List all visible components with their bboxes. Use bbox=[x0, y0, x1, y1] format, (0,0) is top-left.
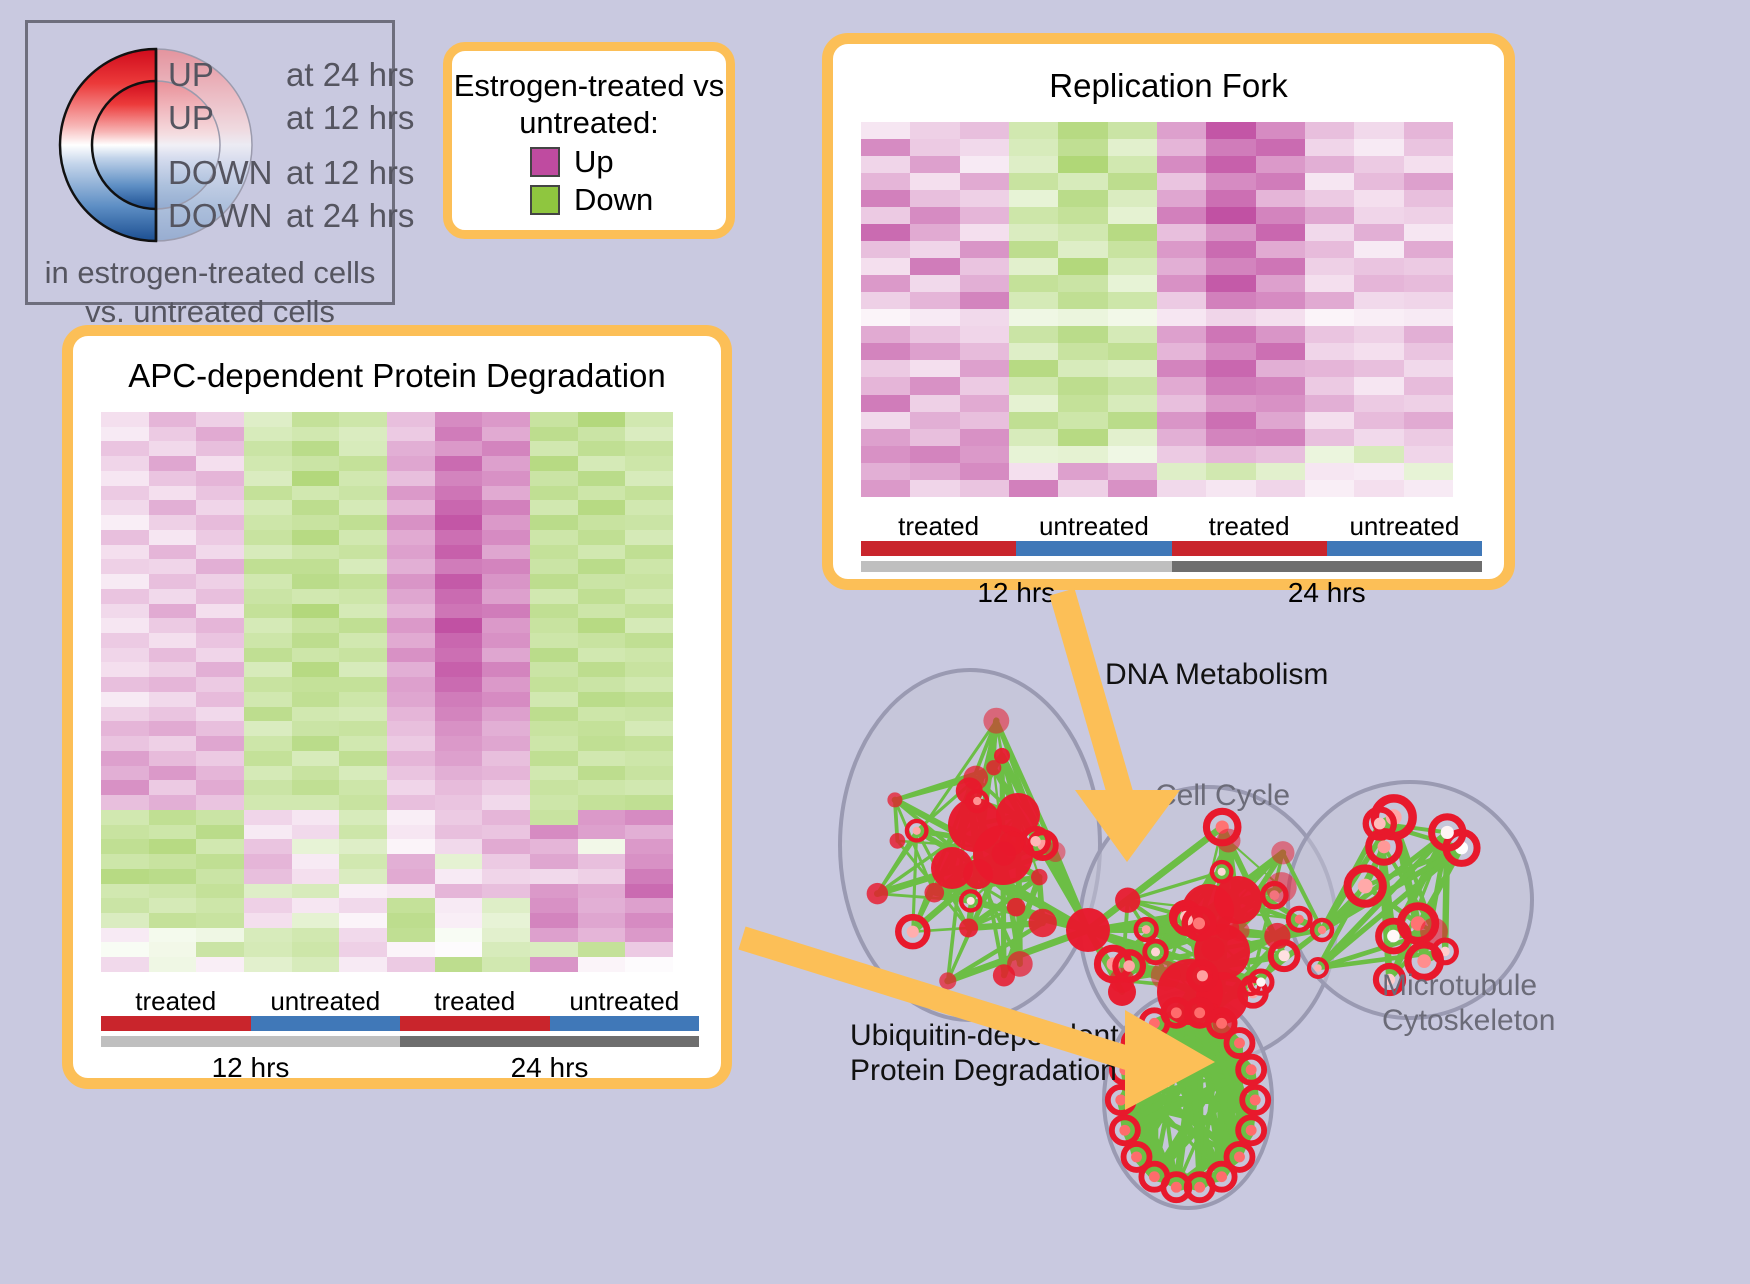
heatmap-cell bbox=[435, 721, 483, 736]
heatmap-cell bbox=[482, 633, 530, 648]
heatmap-cell bbox=[101, 898, 149, 913]
network-graph bbox=[770, 600, 1750, 1279]
heatmap-cell bbox=[196, 633, 244, 648]
heatmap-cell bbox=[1404, 360, 1453, 377]
heatmap-cell bbox=[387, 530, 435, 545]
heatmap-cell bbox=[530, 692, 578, 707]
heatmap-cell bbox=[578, 486, 626, 501]
heatmap-cell bbox=[1404, 258, 1453, 275]
heatmap-cell bbox=[960, 309, 1009, 326]
heatmap-cell bbox=[1058, 224, 1107, 241]
heatmap-cell bbox=[625, 589, 673, 604]
heatmap-row bbox=[861, 139, 1482, 156]
cluster-label-dna-metabolism: DNA Metabolism bbox=[1105, 657, 1328, 692]
network-node[interactable] bbox=[986, 760, 1001, 775]
network-node[interactable] bbox=[1007, 898, 1026, 917]
heatmap-cell bbox=[339, 574, 387, 589]
heatmap-cell bbox=[578, 736, 626, 751]
heatmap-cell bbox=[339, 839, 387, 854]
heatmap-cell bbox=[910, 139, 959, 156]
heatmap-cell bbox=[482, 412, 530, 427]
heatmap-cell bbox=[530, 545, 578, 560]
heatmap-cell bbox=[482, 677, 530, 692]
heatmap-row bbox=[101, 825, 699, 840]
heatmap-cell bbox=[101, 618, 149, 633]
network-node[interactable] bbox=[963, 859, 993, 889]
heatmap-cell bbox=[339, 441, 387, 456]
heatmap-row bbox=[101, 928, 699, 943]
heatmap-cell bbox=[387, 471, 435, 486]
heatmap-cell bbox=[196, 854, 244, 869]
network-node[interactable] bbox=[1266, 872, 1297, 903]
heatmap-cell bbox=[625, 604, 673, 619]
heatmap-cell bbox=[1108, 241, 1157, 258]
heatmap-cell bbox=[578, 530, 626, 545]
heatmap-cell bbox=[1305, 446, 1354, 463]
heatmap-cell bbox=[196, 500, 244, 515]
heatmap-cell bbox=[1108, 326, 1157, 343]
heatmap-cell bbox=[1058, 480, 1107, 497]
heatmap-cell bbox=[101, 648, 149, 663]
network-node-core bbox=[1119, 1064, 1130, 1075]
heatmap-cell bbox=[244, 471, 292, 486]
network-node-core bbox=[1279, 950, 1290, 961]
heatmap-row bbox=[101, 545, 699, 560]
heatmap-cell bbox=[292, 618, 340, 633]
network-node[interactable] bbox=[1420, 918, 1448, 946]
network-node[interactable] bbox=[939, 972, 956, 989]
treatment-colorbar bbox=[101, 1016, 699, 1031]
heatmap-cell bbox=[578, 589, 626, 604]
heatmap-cell bbox=[861, 360, 910, 377]
heatmap-cell bbox=[578, 441, 626, 456]
heatmap-cell bbox=[530, 662, 578, 677]
heatmap-cell bbox=[387, 736, 435, 751]
network-node[interactable] bbox=[1007, 951, 1033, 977]
heatmap-cell bbox=[1157, 412, 1206, 429]
heatmap-cell bbox=[530, 869, 578, 884]
heatmap-row bbox=[101, 839, 699, 854]
heatmap-cell bbox=[910, 156, 959, 173]
heatmap-cell bbox=[625, 736, 673, 751]
network-node[interactable] bbox=[959, 918, 978, 937]
heatmap-cell bbox=[149, 427, 197, 442]
heatmap-cell bbox=[578, 810, 626, 825]
network-node-core bbox=[907, 926, 919, 938]
heatmap-cell bbox=[960, 173, 1009, 190]
key-row-0: UP at 24 hrs bbox=[168, 58, 414, 91]
heatmap-cell bbox=[1108, 343, 1157, 360]
heatmap-cell bbox=[960, 241, 1009, 258]
network-node[interactable] bbox=[1028, 909, 1056, 937]
heatmap-cell bbox=[435, 736, 483, 751]
heatmap-cell bbox=[1404, 412, 1453, 429]
network-node[interactable] bbox=[1045, 842, 1065, 862]
key-row-1-when: at 12 hrs bbox=[286, 101, 414, 134]
heatmap-cell bbox=[910, 258, 959, 275]
heatmap-cell bbox=[625, 780, 673, 795]
heatmap-cell bbox=[1009, 326, 1058, 343]
network-node[interactable] bbox=[983, 708, 1009, 734]
heatmap-cell bbox=[1108, 156, 1157, 173]
heatmap-cell bbox=[244, 913, 292, 928]
heatmap-cell bbox=[244, 427, 292, 442]
heatmap-cell bbox=[435, 618, 483, 633]
heatmap-cell bbox=[435, 412, 483, 427]
heatmap-cell bbox=[387, 545, 435, 560]
heatmap-cell bbox=[1404, 190, 1453, 207]
heatmap-cell bbox=[625, 766, 673, 781]
network-node[interactable] bbox=[1271, 841, 1294, 864]
network-node-core bbox=[1030, 836, 1041, 847]
network-node[interactable] bbox=[1217, 829, 1241, 853]
heatmap-cell bbox=[1206, 258, 1255, 275]
heatmap-cell bbox=[101, 957, 149, 972]
heatmap-cell bbox=[101, 839, 149, 854]
heatmap-cell bbox=[435, 456, 483, 471]
heatmap-cell bbox=[1058, 241, 1107, 258]
heatmap-cell bbox=[1206, 480, 1255, 497]
heatmap-cell bbox=[910, 377, 959, 394]
treatment-label: treated bbox=[400, 986, 550, 1016]
heatmap-cell bbox=[244, 604, 292, 619]
heatmap-cell bbox=[339, 736, 387, 751]
heatmap-cell bbox=[1305, 275, 1354, 292]
heatmap-cell bbox=[196, 692, 244, 707]
heatmap-cell bbox=[244, 441, 292, 456]
heatmap-cell bbox=[435, 559, 483, 574]
heatmap-row bbox=[101, 898, 699, 913]
network-node[interactable] bbox=[1151, 961, 1181, 991]
heatmap-cell bbox=[387, 884, 435, 899]
heatmap-cell bbox=[387, 839, 435, 854]
heatmap-cell bbox=[1108, 173, 1157, 190]
heatmap-cell bbox=[1256, 292, 1305, 309]
heatmap-cell bbox=[435, 928, 483, 943]
heatmap-cell bbox=[196, 928, 244, 943]
network-node-core bbox=[1123, 960, 1135, 972]
heatmap-cell bbox=[625, 913, 673, 928]
heatmap-row bbox=[101, 766, 699, 781]
heatmap-cell bbox=[149, 677, 197, 692]
heatmap-cell bbox=[339, 942, 387, 957]
color-key-footer: in estrogen-treated cells vs. untreated … bbox=[28, 253, 392, 331]
key-row-0-label: UP bbox=[168, 58, 286, 91]
heatmap-cell bbox=[482, 736, 530, 751]
heatmap-row bbox=[861, 463, 1482, 480]
heatmap-cell bbox=[1404, 446, 1453, 463]
legend-title: Estrogen-treated vs untreated: bbox=[452, 67, 726, 141]
heatmap-cell bbox=[339, 854, 387, 869]
heatmap-cell bbox=[578, 692, 626, 707]
heatmap-cell bbox=[482, 810, 530, 825]
heatmap-cell bbox=[387, 751, 435, 766]
heatmap-cell bbox=[196, 427, 244, 442]
heatmap-cell bbox=[101, 913, 149, 928]
heatmap-cell bbox=[530, 839, 578, 854]
heatmap-cell bbox=[960, 360, 1009, 377]
heatmap-cell bbox=[530, 721, 578, 736]
heatmap-cell bbox=[149, 928, 197, 943]
heatmap-cell bbox=[149, 574, 197, 589]
heatmap-row bbox=[101, 604, 699, 619]
legend-item-down: Down bbox=[530, 183, 726, 217]
heatmap-cell bbox=[1305, 412, 1354, 429]
heatmap-cell bbox=[482, 884, 530, 899]
heatmap-cell bbox=[101, 692, 149, 707]
heatmap-cell bbox=[625, 471, 673, 486]
network-node-core bbox=[1314, 964, 1322, 972]
heatmap-cell bbox=[1206, 139, 1255, 156]
apc-axis: treateduntreatedtreateduntreated 12 hrs2… bbox=[101, 986, 699, 1085]
heatmap-cell bbox=[149, 957, 197, 972]
heatmap-cell bbox=[625, 677, 673, 692]
heatmap-cell bbox=[578, 427, 626, 442]
heatmap-cell bbox=[1305, 326, 1354, 343]
heatmap-cell bbox=[482, 604, 530, 619]
heatmap-cell bbox=[578, 766, 626, 781]
heatmap-cell bbox=[530, 780, 578, 795]
heatmap-cell bbox=[244, 633, 292, 648]
heatmap-cell bbox=[1058, 156, 1107, 173]
heatmap-cell bbox=[292, 707, 340, 722]
heatmap-cell bbox=[292, 884, 340, 899]
heatmap-cell bbox=[861, 309, 910, 326]
heatmap-cell bbox=[435, 692, 483, 707]
heatmap-cell bbox=[101, 486, 149, 501]
heatmap-cell bbox=[149, 736, 197, 751]
heatmap-cell bbox=[339, 751, 387, 766]
heatmap-cell bbox=[387, 692, 435, 707]
network-node[interactable] bbox=[992, 841, 1016, 865]
heatmap-cell bbox=[1206, 156, 1255, 173]
heatmap-cell bbox=[101, 751, 149, 766]
heatmap-cell bbox=[578, 456, 626, 471]
heatmap-cell bbox=[292, 427, 340, 442]
heatmap-cell bbox=[196, 559, 244, 574]
network-node-core bbox=[1218, 868, 1226, 876]
network-node[interactable] bbox=[867, 883, 888, 904]
heatmap-cell bbox=[1108, 275, 1157, 292]
network-node-core bbox=[1216, 1171, 1227, 1182]
heatmap-cell bbox=[339, 825, 387, 840]
heatmap-cell bbox=[578, 942, 626, 957]
heatmap-cell bbox=[387, 486, 435, 501]
treatment-label: untreated bbox=[1327, 511, 1482, 541]
heatmap-cell bbox=[530, 751, 578, 766]
network-node[interactable] bbox=[1031, 869, 1048, 886]
heatmap-cell bbox=[101, 515, 149, 530]
heatmap-cell bbox=[530, 604, 578, 619]
heatmap-cell bbox=[1206, 326, 1255, 343]
heatmap-cell bbox=[339, 500, 387, 515]
heatmap-cell bbox=[149, 500, 197, 515]
heatmap-cell bbox=[1157, 429, 1206, 446]
heatmap-cell bbox=[244, 884, 292, 899]
heatmap-cell bbox=[625, 456, 673, 471]
heatmap-cell bbox=[910, 395, 959, 412]
heatmap-cell bbox=[1157, 139, 1206, 156]
network-node[interactable] bbox=[1066, 908, 1110, 952]
network-node-core bbox=[1441, 826, 1454, 839]
heatmap-cell bbox=[1206, 173, 1255, 190]
heatmap-cell bbox=[244, 412, 292, 427]
heatmap-cell bbox=[292, 736, 340, 751]
heatmap-cell bbox=[435, 942, 483, 957]
heatmap-cell bbox=[910, 122, 959, 139]
heatmap-cell bbox=[101, 780, 149, 795]
heatmap-row bbox=[101, 677, 699, 692]
heatmap-row bbox=[101, 589, 699, 604]
network-node-core bbox=[1194, 1182, 1205, 1193]
network-node[interactable] bbox=[1115, 888, 1140, 913]
heatmap-cell bbox=[149, 441, 197, 456]
heatmap-cell bbox=[1404, 156, 1453, 173]
heatmap-cell bbox=[292, 545, 340, 560]
heatmap-cell bbox=[1354, 275, 1403, 292]
heatmap-cell bbox=[530, 707, 578, 722]
heatmap-cell bbox=[339, 412, 387, 427]
heatmap-cell bbox=[960, 156, 1009, 173]
heatmap-cell bbox=[960, 480, 1009, 497]
heatmap-cell bbox=[1256, 190, 1305, 207]
heatmap-cell bbox=[1206, 395, 1255, 412]
network-node[interactable] bbox=[963, 766, 988, 791]
heatmap-cell bbox=[149, 884, 197, 899]
heatmap-cell bbox=[1058, 360, 1107, 377]
heatmap-cell bbox=[292, 942, 340, 957]
heatmap-cell bbox=[625, 662, 673, 677]
heatmap-cell bbox=[292, 721, 340, 736]
heatmap-row bbox=[101, 751, 699, 766]
heatmap-cell bbox=[196, 662, 244, 677]
heatmap-cell bbox=[387, 427, 435, 442]
heatmap-cell bbox=[1404, 241, 1453, 258]
heatmap-cell bbox=[292, 486, 340, 501]
heatmap-cell bbox=[1305, 480, 1354, 497]
treatment-label: untreated bbox=[1016, 511, 1171, 541]
heatmap-cell bbox=[196, 648, 244, 663]
heatmap-cell bbox=[149, 707, 197, 722]
heatmap-cell bbox=[861, 207, 910, 224]
heatmap-cell bbox=[1354, 480, 1403, 497]
heatmap-cell bbox=[196, 780, 244, 795]
network-node[interactable] bbox=[887, 792, 902, 807]
heatmap-cell bbox=[910, 190, 959, 207]
heatmap-cell bbox=[1157, 309, 1206, 326]
heatmap-row bbox=[861, 224, 1482, 241]
heatmap-cell bbox=[910, 343, 959, 360]
heatmap-row bbox=[101, 456, 699, 471]
heatmap-cell bbox=[244, 692, 292, 707]
heatmap-row bbox=[101, 707, 699, 722]
heatmap-row bbox=[861, 309, 1482, 326]
heatmap-cell bbox=[1108, 139, 1157, 156]
heatmap-cell bbox=[101, 427, 149, 442]
network-node[interactable] bbox=[1229, 921, 1249, 941]
heatmap-cell bbox=[578, 618, 626, 633]
heatmap-cell bbox=[1354, 309, 1403, 326]
heatmap-cell bbox=[1058, 275, 1107, 292]
network-node[interactable] bbox=[924, 883, 944, 903]
heatmap-cell bbox=[861, 412, 910, 429]
heatmap-cell bbox=[292, 913, 340, 928]
heatmap-cell bbox=[292, 854, 340, 869]
heatmap-cell bbox=[149, 839, 197, 854]
heatmap-cell bbox=[101, 471, 149, 486]
heatmap-cell bbox=[1354, 412, 1403, 429]
heatmap-cell bbox=[578, 662, 626, 677]
heatmap-cell bbox=[482, 530, 530, 545]
heatmap-cell bbox=[1404, 429, 1453, 446]
heatmap-cell bbox=[292, 839, 340, 854]
heatmap-cell bbox=[101, 530, 149, 545]
heatmap-row bbox=[861, 326, 1482, 343]
heatmap-cell bbox=[244, 825, 292, 840]
network-node[interactable] bbox=[1264, 923, 1290, 949]
heatmap-cell bbox=[625, 618, 673, 633]
heatmap-cell bbox=[292, 589, 340, 604]
heatmap-cell bbox=[196, 545, 244, 560]
heatmap-cell bbox=[149, 913, 197, 928]
heatmap-cell bbox=[101, 736, 149, 751]
heatmap-cell bbox=[196, 589, 244, 604]
key-row-3-label: DOWN bbox=[168, 199, 286, 232]
heatmap-cell bbox=[1354, 343, 1403, 360]
heatmap-cell bbox=[1058, 309, 1107, 326]
heatmap-cell bbox=[530, 825, 578, 840]
heatmap-cell bbox=[578, 559, 626, 574]
heatmap-cell bbox=[1404, 343, 1453, 360]
heatmap-cell bbox=[530, 913, 578, 928]
heatmap-cell bbox=[244, 810, 292, 825]
heatmap-row bbox=[101, 780, 699, 795]
heatmap-cell bbox=[578, 957, 626, 972]
heatmap-cell bbox=[530, 677, 578, 692]
network-node-core bbox=[1216, 1018, 1227, 1029]
heatmap-cell bbox=[1354, 326, 1403, 343]
network-node[interactable] bbox=[890, 833, 906, 849]
heatmap-cell bbox=[960, 275, 1009, 292]
heatmap-cell bbox=[101, 441, 149, 456]
heatmap-cell bbox=[1058, 326, 1107, 343]
heatmap-cell bbox=[530, 559, 578, 574]
heatmap-cell bbox=[530, 618, 578, 633]
heatmap-cell bbox=[910, 463, 959, 480]
heatmap-row bbox=[861, 429, 1482, 446]
heatmap-cell bbox=[1256, 326, 1305, 343]
heatmap-cell bbox=[1108, 224, 1157, 241]
heatmap-cell bbox=[339, 604, 387, 619]
heatmap-cell bbox=[196, 441, 244, 456]
heatmap-cell bbox=[387, 633, 435, 648]
heatmap-cell bbox=[625, 500, 673, 515]
heatmap-cell bbox=[435, 957, 483, 972]
network-node[interactable] bbox=[1108, 978, 1136, 1006]
heatmap-cell bbox=[196, 839, 244, 854]
heatmap-cell bbox=[861, 395, 910, 412]
heatmap-cell bbox=[960, 377, 1009, 394]
heatmap-cell bbox=[292, 869, 340, 884]
heatmap-cell bbox=[101, 884, 149, 899]
heatmap-cell bbox=[1256, 207, 1305, 224]
heatmap-cell bbox=[1305, 343, 1354, 360]
heatmap-cell bbox=[149, 662, 197, 677]
heatmap-cell bbox=[530, 589, 578, 604]
heatmap-cell bbox=[1108, 480, 1157, 497]
network-node[interactable] bbox=[1202, 937, 1225, 960]
heatmap-cell bbox=[244, 721, 292, 736]
